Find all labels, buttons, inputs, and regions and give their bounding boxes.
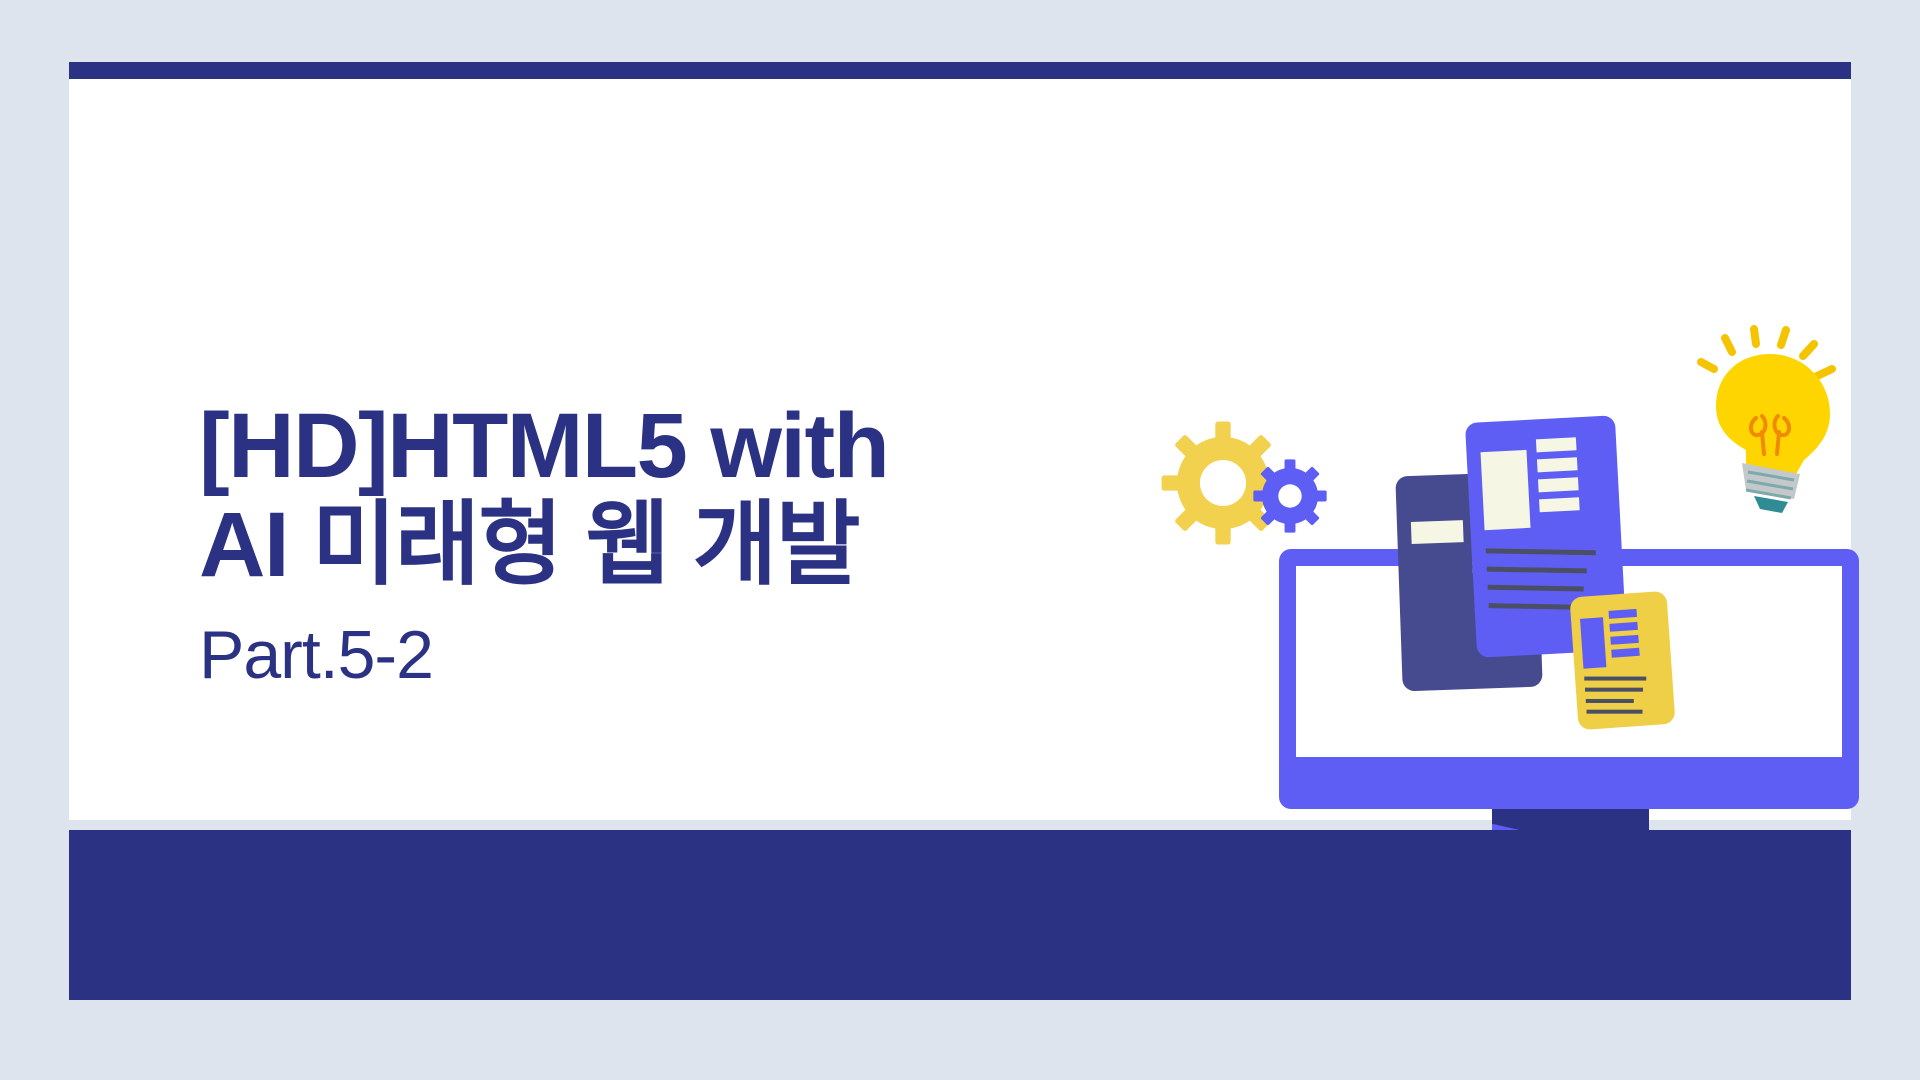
- bottom-accent-band: [69, 830, 1851, 1000]
- lightbulb-icon: [1684, 324, 1859, 514]
- page-title-line-1: [HD]HTML5 with: [199, 397, 1179, 496]
- top-accent-rule: [69, 62, 1851, 79]
- page-subtitle: Part.5-2: [199, 618, 1179, 693]
- presentation-slide: [HD]HTML5 with AI 미래형 웹 개발 Part.5-2: [0, 0, 1920, 1080]
- slide-canvas: [HD]HTML5 with AI 미래형 웹 개발 Part.5-2: [69, 79, 1851, 820]
- hero-illustration: [1149, 319, 1889, 899]
- document-card-stack: [1399, 414, 1719, 714]
- page-title-line-2: AI 미래형 웹 개발: [199, 496, 1179, 595]
- gear-cluster: [1159, 419, 1349, 549]
- document-card-front: [1569, 591, 1675, 730]
- gear-small-icon: [1251, 457, 1329, 535]
- title-block: [HD]HTML5 with AI 미래형 웹 개발 Part.5-2: [199, 397, 1179, 693]
